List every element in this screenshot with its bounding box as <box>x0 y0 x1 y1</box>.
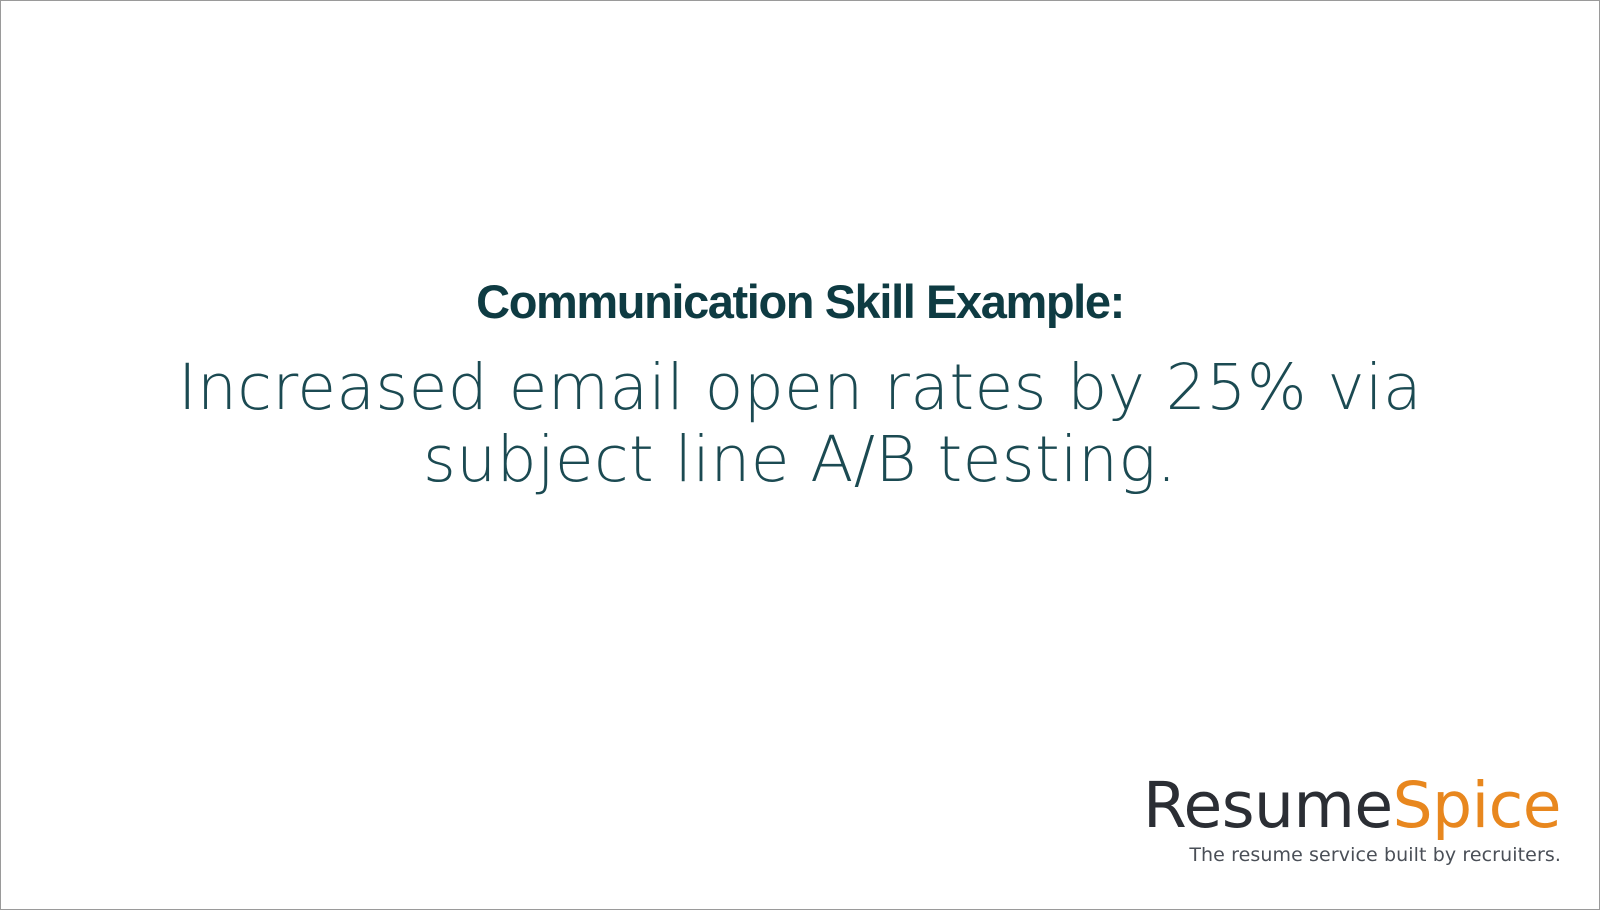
slide-canvas: Communication Skill Example: Increased e… <box>0 0 1600 910</box>
page-title: Communication Skill Example: <box>61 273 1539 330</box>
content-block: Communication Skill Example: Increased e… <box>1 273 1599 496</box>
logo-wordmark: ResumeSpice <box>1143 774 1561 837</box>
statement-line-2: subject line A/B testing. <box>61 424 1539 496</box>
logo-word-accent: Spice <box>1393 769 1561 842</box>
statement-line-1: Increased email open rates by 25% via <box>61 352 1539 424</box>
statement-text: Increased email open rates by 25% via su… <box>61 352 1539 496</box>
logo-tagline: The resume service built by recruiters. <box>1143 846 1561 865</box>
logo-word-primary: Resume <box>1143 769 1393 842</box>
brand-logo: ResumeSpice The resume service built by … <box>1143 774 1561 865</box>
